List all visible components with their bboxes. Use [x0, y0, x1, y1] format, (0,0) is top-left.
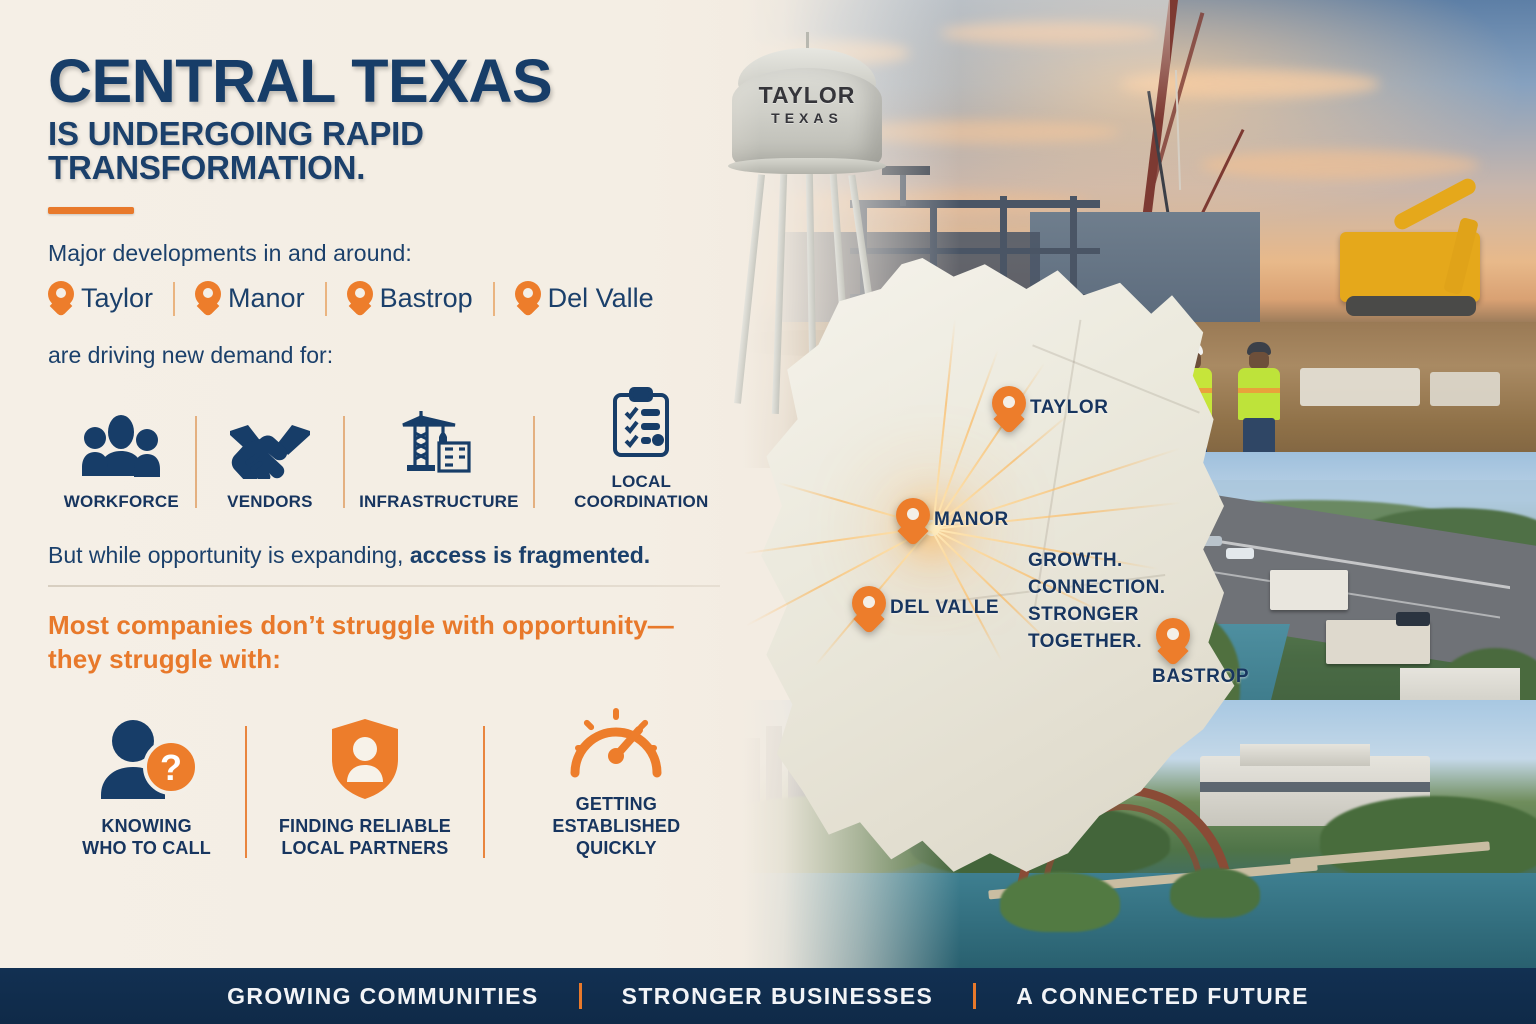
- region-map: TAYLOR MANOR DEL VALLE BASTROP GROWTH. C…: [756, 258, 1276, 878]
- person-question-icon: ?: [95, 715, 199, 801]
- divider: [483, 726, 485, 858]
- punchline: Most companies don’t struggle with oppor…: [48, 609, 748, 677]
- map-pin-taylor[interactable]: TAYLOR: [992, 386, 1026, 432]
- punchline-line-2: they struggle with:: [48, 643, 748, 677]
- struggle-label: KNOWING WHO TO CALL: [82, 816, 211, 860]
- content-panel: CENTRAL TEXAS IS UNDERGOING RAPID TRANSF…: [0, 0, 760, 968]
- demand-item-workforce[interactable]: WORKFORCE: [48, 407, 195, 512]
- infographic-root: TAYLOR TEXAS CENTRAL TEXAS IS UNDERGOING…: [0, 0, 1536, 1024]
- city-label: Taylor: [81, 283, 153, 314]
- footer-item-stronger-businesses: STRONGER BUSINESSES: [622, 983, 934, 1010]
- demand-label: VENDORS: [227, 492, 312, 512]
- map-pin-icon: [896, 498, 930, 544]
- footer-bar: GROWING COMMUNITIES STRONGER BUSINESSES …: [0, 968, 1536, 1024]
- demand-item-local-coordination[interactable]: LOCAL COORDINATION: [535, 387, 748, 512]
- struggles-row: ? KNOWING WHO TO CALL: [48, 693, 748, 860]
- city-list: Taylor Manor Bastrop Del Valle: [48, 281, 748, 316]
- map-pin-icon: [515, 281, 541, 316]
- divider: [325, 282, 327, 316]
- page-title: CENTRAL TEXAS: [48, 0, 748, 111]
- fragmented-statement: But while opportunity is expanding, acce…: [48, 542, 748, 569]
- demand-row: WORKFORCE VENDORS: [48, 387, 748, 512]
- struggle-item-knowing-who-to-call[interactable]: ? KNOWING WHO TO CALL: [48, 715, 245, 860]
- demand-label: WORKFORCE: [64, 492, 179, 512]
- city-item-bastrop[interactable]: Bastrop: [347, 281, 493, 316]
- map-pin-label: MANOR: [934, 509, 1009, 531]
- city-item-manor[interactable]: Manor: [195, 281, 325, 316]
- divider: [579, 983, 582, 1009]
- map-pin-icon: [195, 281, 221, 316]
- map-pin-manor[interactable]: MANOR: [896, 498, 930, 544]
- city-label: Manor: [228, 283, 305, 314]
- punchline-line-1: Most companies don’t struggle with oppor…: [48, 609, 748, 643]
- struggle-label: FINDING RELIABLE LOCAL PARTNERS: [279, 816, 451, 860]
- crane-building-icon: [397, 407, 481, 479]
- clipboard-checklist-icon: [608, 387, 674, 459]
- divider: [195, 416, 197, 508]
- demand-label: LOCAL COORDINATION: [549, 472, 734, 512]
- city-item-taylor[interactable]: Taylor: [48, 281, 173, 316]
- intro-lead: Major developments in and around:: [48, 240, 748, 267]
- divider: [973, 983, 976, 1009]
- map-tagline-line-4: TOGETHER.: [1028, 629, 1165, 656]
- demand-label: INFRASTRUCTURE: [359, 492, 519, 512]
- map-pin-icon: [347, 281, 373, 316]
- speedometer-icon: [565, 693, 667, 779]
- map-pin-icon: [48, 281, 74, 316]
- map-tagline: GROWTH. CONNECTION. STRONGER TOGETHER.: [1028, 548, 1165, 656]
- divider: [343, 416, 345, 508]
- demand-item-infrastructure[interactable]: INFRASTRUCTURE: [345, 407, 533, 512]
- map-tagline-line-2: CONNECTION.: [1028, 575, 1165, 602]
- map-tagline-line-3: STRONGER: [1028, 602, 1165, 629]
- fragmented-text-normal: But while opportunity is expanding,: [48, 542, 410, 568]
- map-tagline-line-1: GROWTH.: [1028, 548, 1165, 575]
- page-subtitle: IS UNDERGOING RAPID TRANSFORMATION.: [48, 117, 748, 186]
- accent-bar: [48, 207, 134, 214]
- divider: [245, 726, 247, 858]
- intro-lead-2: are driving new demand for:: [48, 342, 748, 369]
- map-pin-label: BASTROP: [1152, 666, 1249, 688]
- city-item-del-valle[interactable]: Del Valle: [515, 281, 674, 316]
- people-group-icon: [82, 407, 160, 479]
- fragmented-text-bold: access is fragmented.: [410, 542, 650, 568]
- shield-person-icon: [330, 715, 400, 801]
- struggle-item-getting-established-quickly[interactable]: GETTING ESTABLISHED QUICKLY: [485, 693, 748, 860]
- map-pin-icon: [992, 386, 1026, 432]
- divider: [533, 416, 535, 508]
- map-pin-label: DEL VALLE: [890, 597, 999, 619]
- struggle-label: GETTING ESTABLISHED QUICKLY: [511, 794, 722, 860]
- demand-item-vendors[interactable]: VENDORS: [197, 407, 344, 512]
- footer-item-a-connected-future: A CONNECTED FUTURE: [1016, 983, 1309, 1010]
- handshake-icon: [226, 407, 314, 479]
- map-pin-icon: [852, 586, 886, 632]
- city-label: Del Valle: [548, 283, 654, 314]
- divider: [173, 282, 175, 316]
- city-label: Bastrop: [380, 283, 473, 314]
- svg-text:?: ?: [160, 747, 182, 788]
- map-pin-label: TAYLOR: [1030, 397, 1109, 419]
- footer-item-growing-communities: GROWING COMMUNITIES: [227, 983, 539, 1010]
- section-divider: [48, 585, 720, 587]
- divider: [493, 282, 495, 316]
- struggle-item-finding-reliable-local-partners[interactable]: FINDING RELIABLE LOCAL PARTNERS: [247, 715, 483, 860]
- map-pin-del-valle[interactable]: DEL VALLE: [852, 586, 886, 632]
